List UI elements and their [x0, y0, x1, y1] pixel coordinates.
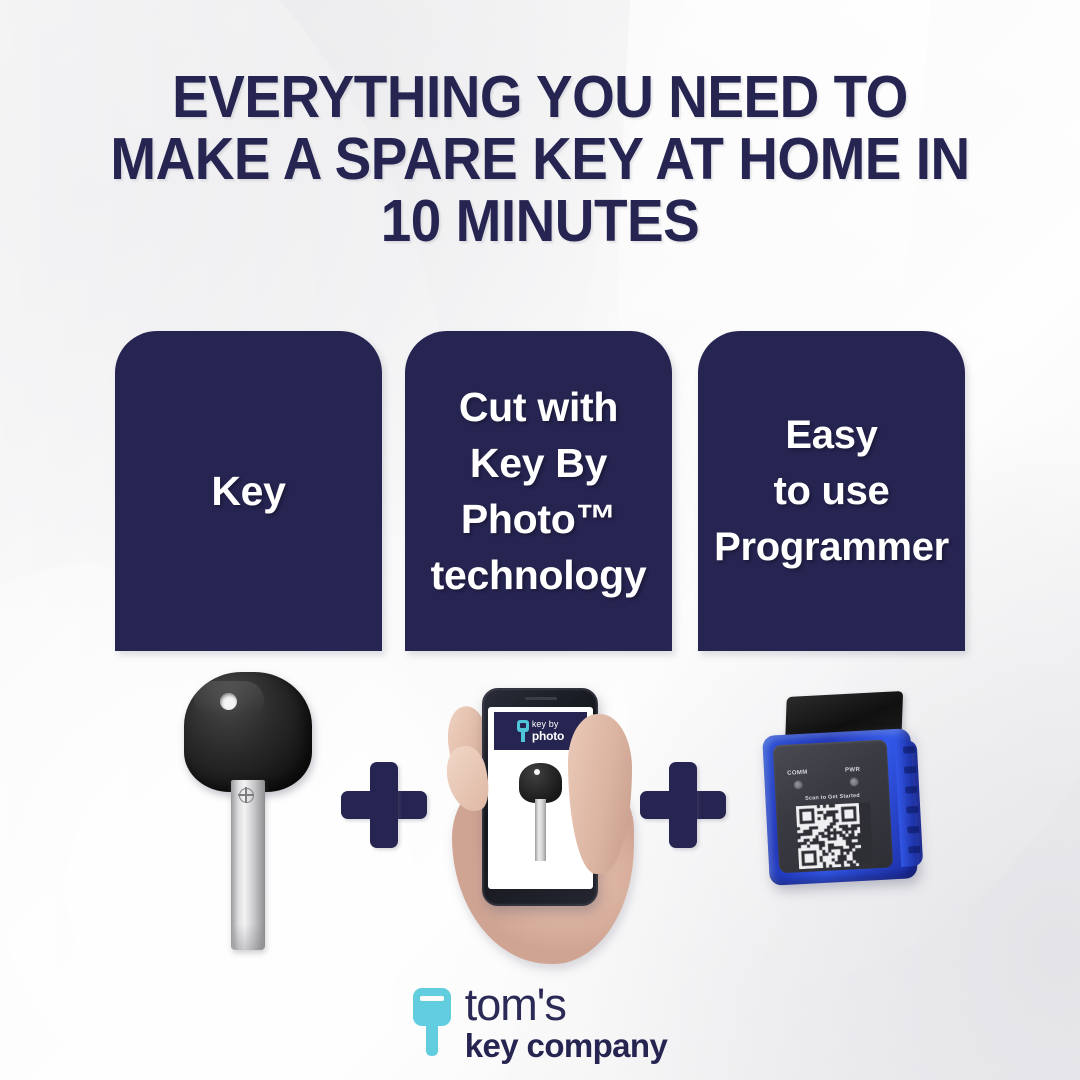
screen-key-hole — [534, 769, 540, 775]
key-camera-icon — [517, 720, 529, 742]
key-blade-mark-icon — [239, 788, 254, 803]
obd-pwr-label: PWR — [845, 767, 860, 774]
plus-icon — [341, 762, 427, 848]
app-banner-line-1: key by — [532, 720, 564, 729]
key-blade — [231, 780, 265, 950]
key-head — [184, 672, 312, 792]
brand-name-key-company: key company — [465, 1029, 668, 1062]
qr-code — [796, 802, 873, 866]
feature-card-key-label: Key — [211, 463, 285, 519]
transponder-key-image — [176, 672, 326, 950]
obd-comm-led — [794, 780, 803, 789]
key-logo-icon — [413, 988, 451, 1056]
screen-key-head — [519, 763, 562, 803]
obd-comm-label: COMM — [787, 770, 808, 777]
headline-line-3: 10 MINUTES — [38, 190, 1042, 252]
feature-card-programmer-label: Easy to use Programmer — [714, 407, 949, 575]
feature-card-programmer: Easy to use Programmer — [698, 331, 965, 651]
plus-icon-bar-vertical — [370, 762, 398, 848]
obd-programmer-image: COMM PWR Scan to Get Started — [756, 690, 956, 910]
feature-card-key-by-photo-label: Cut with Key By Photo™ technology — [431, 379, 647, 603]
screen-key-blade — [535, 799, 546, 861]
feature-card-key: Key — [115, 331, 382, 651]
hand-holding-phone-image: key by photo — [448, 668, 638, 968]
plus-icon — [640, 762, 726, 848]
brand-name-toms: tom's — [465, 982, 668, 1027]
obd-scan-instruction: Scan to Get Started — [775, 791, 889, 803]
headline-line-1: EVERYTHING YOU NEED TO — [38, 66, 1042, 128]
phone-earpiece — [525, 697, 557, 700]
brand-logo: tom's key company — [0, 982, 1080, 1062]
feature-card-key-by-photo: Cut with Key By Photo™ technology — [405, 331, 672, 651]
obd-body: COMM PWR Scan to Get Started — [762, 728, 918, 886]
headline-line-2: MAKE A SPARE KEY AT HOME IN — [38, 128, 1042, 190]
obd-pwr-led — [849, 777, 858, 786]
app-banner-line-2: photo — [532, 730, 564, 742]
obd-side-ridges — [895, 740, 924, 867]
plus-icon-bar-vertical — [669, 762, 697, 848]
page-title: EVERYTHING YOU NEED TO MAKE A SPARE KEY … — [38, 66, 1042, 252]
infographic-poster: EVERYTHING YOU NEED TO MAKE A SPARE KEY … — [0, 0, 1080, 1080]
key-keyring-hole — [220, 693, 237, 710]
obd-face-plate: COMM PWR Scan to Get Started — [773, 739, 894, 873]
